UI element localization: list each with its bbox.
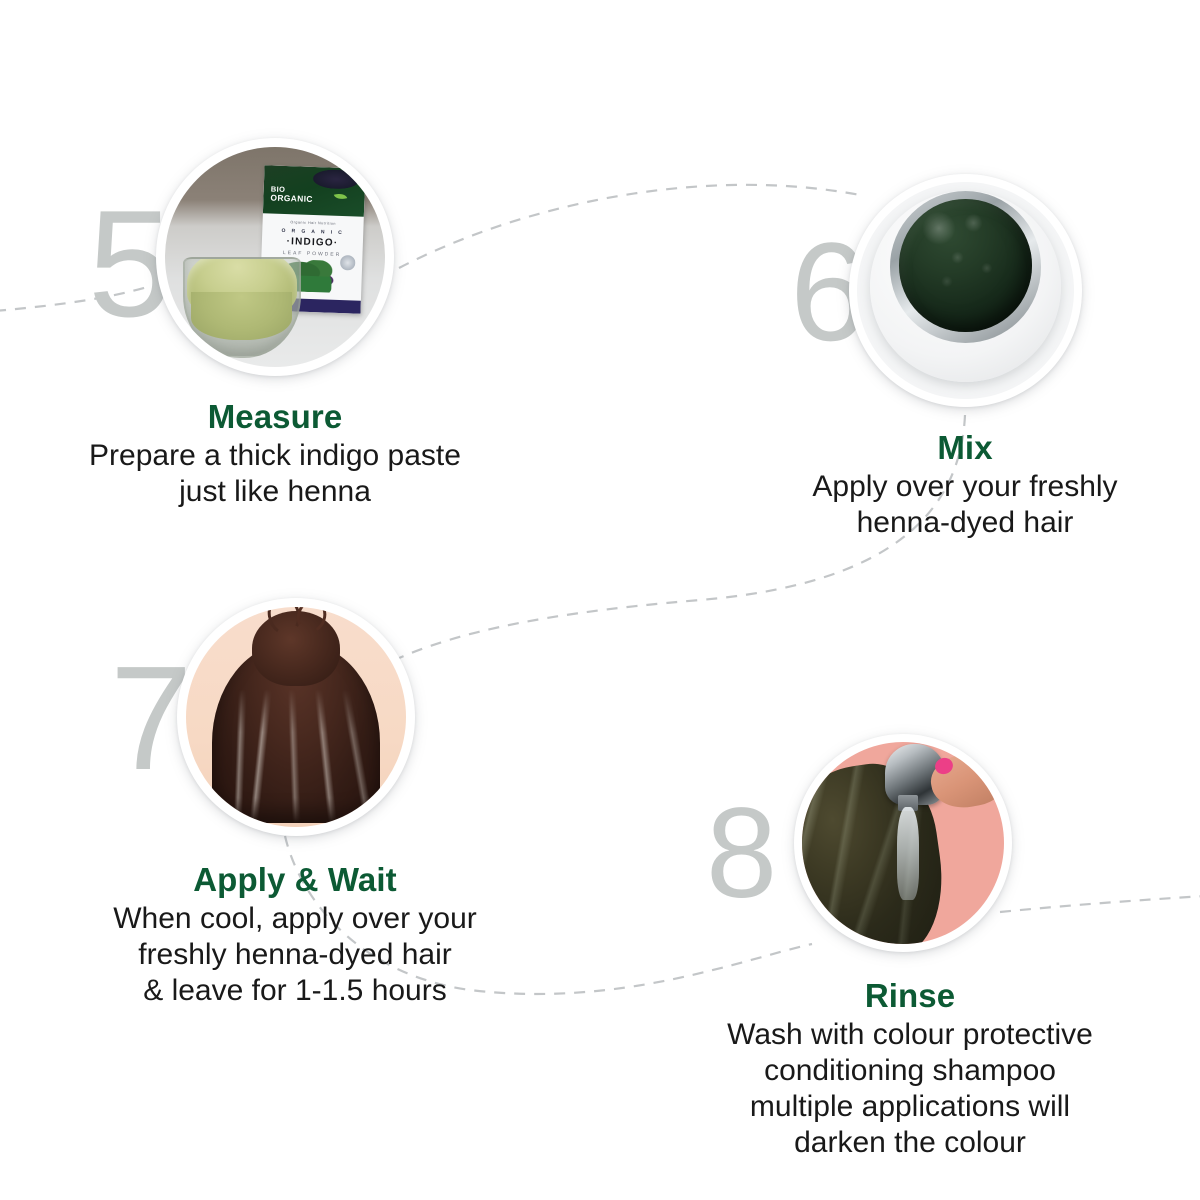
step-8-photo-circle	[794, 734, 1012, 952]
indigo-paste	[899, 199, 1031, 331]
water-stream	[897, 807, 919, 900]
hair-top-knot	[252, 611, 340, 686]
step-8-title: Rinse	[665, 978, 1155, 1015]
product-descriptor: Organic Hair Nutrition	[272, 219, 353, 226]
step-6-photo-circle	[849, 174, 1082, 407]
step-7-caption: Apply & Wait When cool, apply over your …	[40, 862, 550, 1009]
dark-green-indigo-paste-in-glass-bowl-photo	[857, 182, 1074, 399]
step-5-photo-circle: BIO ORGANIC Organic Hair Nutrition O R G…	[156, 138, 394, 376]
step-8-number: 8	[706, 790, 775, 918]
brand-line-2: ORGANIC	[270, 193, 313, 203]
indigo-application-steps-infographic: 5 BIO ORGANIC Organic Hair Nutrition O R…	[0, 0, 1200, 1200]
connector-out-step8	[1000, 896, 1200, 912]
step-7-title: Apply & Wait	[40, 862, 550, 899]
step-5-body: Prepare a thick indigo paste just like h…	[30, 438, 520, 510]
product-brand-text: BIO ORGANIC	[270, 186, 313, 204]
step-6-title: Mix	[730, 430, 1200, 467]
rinsing-hair-under-shower-photo	[802, 742, 1004, 944]
hair-bun-with-indigo-paste-photo	[186, 607, 406, 827]
step-6-caption: Mix Apply over your freshly henna-dyed h…	[730, 430, 1200, 541]
product-seal-badge	[340, 255, 356, 270]
indigo-powder-bowl-and-product-box-photo: BIO ORGANIC Organic Hair Nutrition O R G…	[165, 147, 385, 367]
step-7-photo-circle	[177, 598, 415, 836]
step-5-caption: Measure Prepare a thick indigo paste jus…	[30, 399, 520, 510]
product-name: ·INDIGO·	[268, 235, 357, 249]
step-5-title: Measure	[30, 399, 520, 436]
step-8-body: Wash with colour protective conditioning…	[665, 1017, 1155, 1161]
step-6-body: Apply over your freshly henna-dyed hair	[730, 469, 1200, 541]
glass-bowl-with-powder	[183, 257, 301, 358]
step-8-caption: Rinse Wash with colour protective condit…	[665, 978, 1155, 1161]
step-7-body: When cool, apply over your freshly henna…	[40, 901, 550, 1009]
